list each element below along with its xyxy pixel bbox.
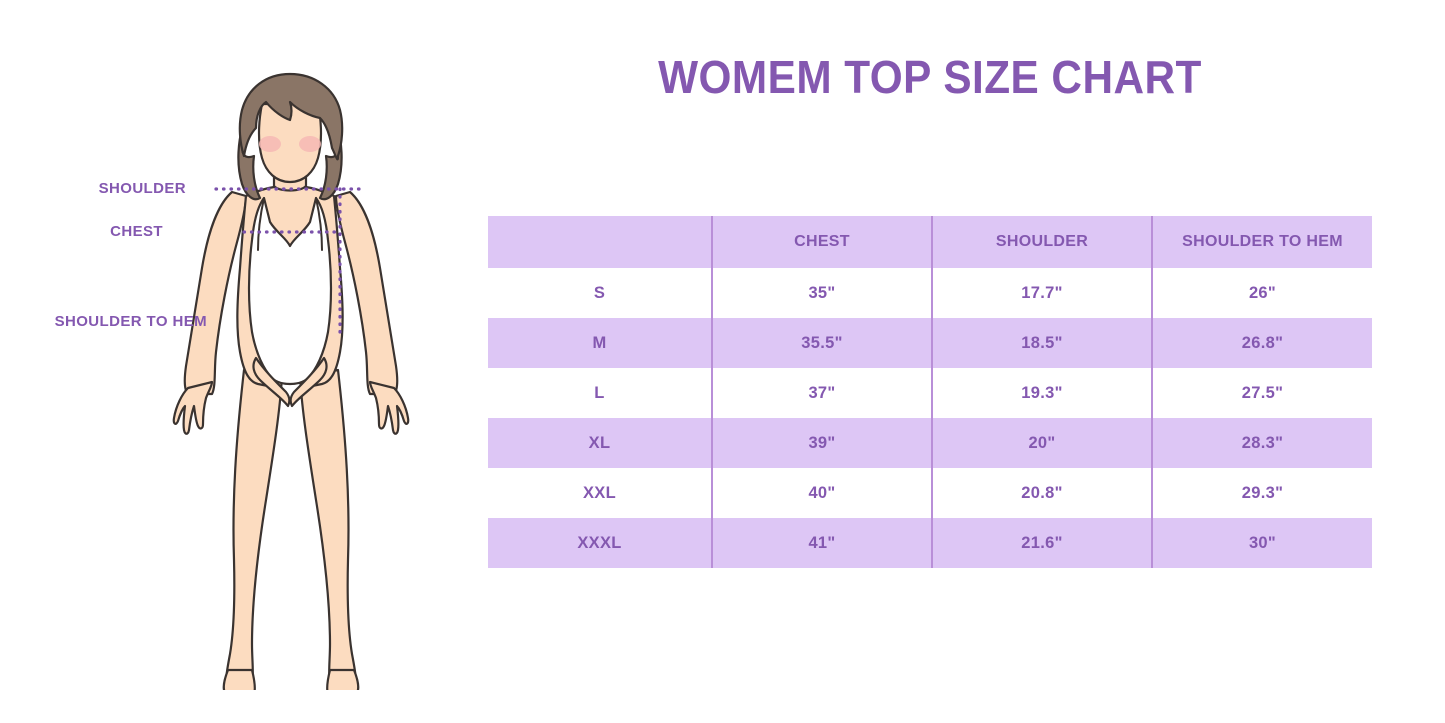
cell-size: L	[488, 368, 712, 418]
table-row: L 37" 19.3" 27.5"	[488, 368, 1372, 418]
left-hand	[174, 382, 212, 434]
cell-chest: 35"	[712, 268, 932, 318]
cell-size: M	[488, 318, 712, 368]
measurement-label-shoulder-to-hem: SHOULDER TO HEM	[0, 313, 207, 330]
size-chart-table-wrapper: CHEST SHOULDER SHOULDER TO HEM S 35" 17.…	[488, 216, 1372, 568]
cell-chest: 41"	[712, 518, 932, 568]
table-header-row: CHEST SHOULDER SHOULDER TO HEM	[488, 216, 1372, 268]
cell-size: S	[488, 268, 712, 318]
left-foot	[224, 670, 255, 690]
measurement-label-chest: CHEST	[0, 223, 163, 240]
right-hand	[370, 382, 408, 434]
column-header-shoulder-to-hem: SHOULDER TO HEM	[1152, 216, 1372, 268]
right-blush	[299, 136, 321, 152]
page-title: WOMEM TOP SIZE CHART	[507, 50, 1353, 104]
column-header-shoulder: SHOULDER	[932, 216, 1152, 268]
table-body: S 35" 17.7" 26" M 35.5" 18.5" 26.8" L 37…	[488, 268, 1372, 568]
cell-shoulder: 20.8"	[932, 468, 1152, 518]
cell-shoulder-to-hem: 30"	[1152, 518, 1372, 568]
cell-shoulder-to-hem: 29.3"	[1152, 468, 1372, 518]
cell-chest: 37"	[712, 368, 932, 418]
cell-shoulder: 20"	[932, 418, 1152, 468]
left-leg	[227, 370, 282, 684]
cell-shoulder-to-hem: 28.3"	[1152, 418, 1372, 468]
cell-chest: 39"	[712, 418, 932, 468]
right-arm	[336, 192, 397, 394]
table-row: XL 39" 20" 28.3"	[488, 418, 1372, 468]
cell-size: XXL	[488, 468, 712, 518]
size-chart-table: CHEST SHOULDER SHOULDER TO HEM S 35" 17.…	[488, 216, 1372, 568]
left-blush	[259, 136, 281, 152]
right-leg	[300, 370, 355, 684]
left-arm	[185, 192, 246, 394]
table-row: XXL 40" 20.8" 29.3"	[488, 468, 1372, 518]
cell-shoulder: 21.6"	[932, 518, 1152, 568]
column-header-chest: CHEST	[712, 216, 932, 268]
female-figure-illustration	[140, 40, 460, 690]
cell-shoulder-to-hem: 26"	[1152, 268, 1372, 318]
cell-size: XL	[488, 418, 712, 468]
table-header: CHEST SHOULDER SHOULDER TO HEM	[488, 216, 1372, 268]
measurement-label-shoulder: SHOULDER	[0, 180, 186, 197]
cell-shoulder-to-hem: 27.5"	[1152, 368, 1372, 418]
cell-shoulder: 19.3"	[932, 368, 1152, 418]
cell-chest: 40"	[712, 468, 932, 518]
cell-shoulder: 17.7"	[932, 268, 1152, 318]
right-foot	[327, 670, 358, 690]
column-header-size	[488, 216, 712, 268]
cell-size: XXXL	[488, 518, 712, 568]
cell-shoulder-to-hem: 26.8"	[1152, 318, 1372, 368]
table-row: XXXL 41" 21.6" 30"	[488, 518, 1372, 568]
table-row: S 35" 17.7" 26"	[488, 268, 1372, 318]
cell-chest: 35.5"	[712, 318, 932, 368]
cell-shoulder: 18.5"	[932, 318, 1152, 368]
table-row: M 35.5" 18.5" 26.8"	[488, 318, 1372, 368]
